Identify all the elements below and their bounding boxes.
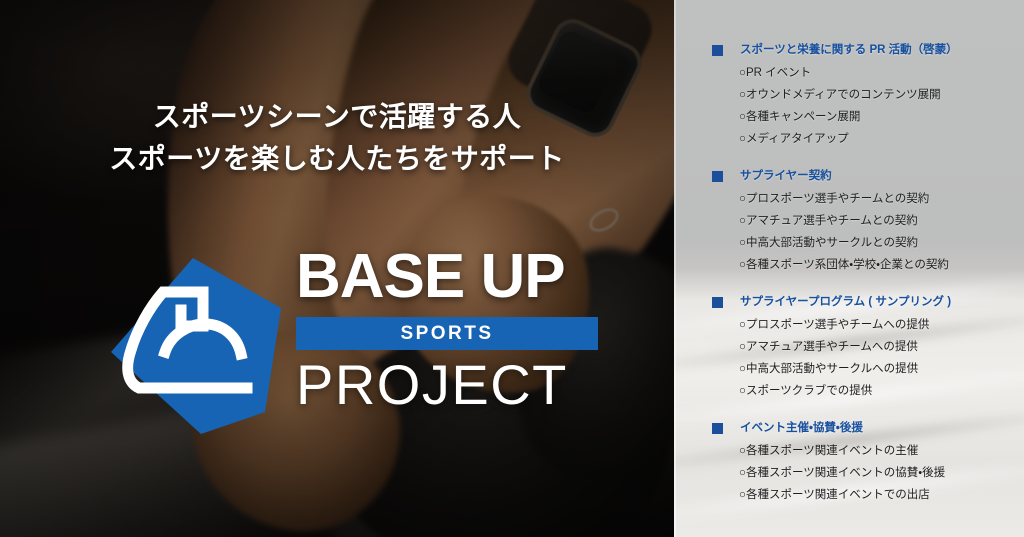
activities-panel: スポーツと栄養に関する PR 活動（啓蒙） ○PR イベント ○オウンドメディア… xyxy=(674,0,1024,537)
hero-headline: スポーツシーンで活躍する人 スポーツを楽しむ人たちをサポート xyxy=(0,96,674,180)
list-item: ○オウンドメディアでのコンテンツ展開 xyxy=(739,84,1024,106)
blue-square-bullet-icon xyxy=(712,45,723,56)
activity-group-heading: サプライヤー契約 xyxy=(712,168,1024,184)
brand-logo-lockup: BASE UP SPORTS PROJECT xyxy=(0,246,674,446)
wordmark-sports-label: SPORTS xyxy=(400,324,493,343)
activity-group-heading: イベント主催・協賛・後援 xyxy=(712,420,1024,436)
activities-list: スポーツと栄養に関する PR 活動（啓蒙） ○PR イベント ○オウンドメディア… xyxy=(674,0,1024,537)
activity-group-title: サプライヤープログラム ( サンプリング ) xyxy=(740,296,951,308)
blue-square-bullet-icon xyxy=(712,297,723,308)
wordmark: BASE UP SPORTS PROJECT xyxy=(296,246,626,414)
activity-group-events: イベント主催・協賛・後援 ○各種スポーツ関連イベントの主催 ○各種スポーツ関連イ… xyxy=(712,420,1024,522)
activity-group-heading: サプライヤープログラム ( サンプリング ) xyxy=(712,294,1024,310)
wordmark-base-up: BASE UP xyxy=(296,246,626,308)
list-item: ○アマチュア選手やチームとの契約 xyxy=(739,210,1024,232)
blue-square-bullet-icon xyxy=(712,171,723,182)
activity-item-list: ○プロスポーツ選手やチームへの提供 ○アマチュア選手やチームへの提供 ○中高大部… xyxy=(712,314,1024,402)
activity-group-title: スポーツと栄養に関する PR 活動（啓蒙） xyxy=(740,44,958,56)
blue-square-bullet-icon xyxy=(712,423,723,434)
list-item: ○各種スポーツ関連イベントの主催 xyxy=(739,440,1024,462)
activity-group-supplier-program: サプライヤープログラム ( サンプリング ) ○プロスポーツ選手やチームへの提供… xyxy=(712,294,1024,418)
list-item: ○各種キャンペーン展開 xyxy=(739,106,1024,128)
list-item: ○各種スポーツ系団体・学校・企業との契約 xyxy=(739,254,1024,276)
list-item: ○中高大部活動やサークルへの提供 xyxy=(739,358,1024,380)
list-item: ○スポーツクラブでの提供 xyxy=(739,380,1024,402)
list-item: ○各種スポーツ関連イベントでの出店 xyxy=(739,484,1024,506)
list-item: ○アマチュア選手やチームへの提供 xyxy=(739,336,1024,358)
list-item: ○プロスポーツ選手やチームとの契約 xyxy=(739,188,1024,210)
activity-group-pr: スポーツと栄養に関する PR 活動（啓蒙） ○PR イベント ○オウンドメディア… xyxy=(712,42,1024,166)
flexed-arm-icon xyxy=(105,256,283,436)
activity-group-heading: スポーツと栄養に関する PR 活動（啓蒙） xyxy=(712,42,1024,58)
activity-item-list: ○プロスポーツ選手やチームとの契約 ○アマチュア選手やチームとの契約 ○中高大部… xyxy=(712,188,1024,276)
list-item: ○メディアタイアップ xyxy=(739,128,1024,150)
hero-photo-panel: スポーツシーンで活躍する人 スポーツを楽しむ人たちをサポート BASE UP xyxy=(0,0,674,537)
activity-item-list: ○各種スポーツ関連イベントの主催 ○各種スポーツ関連イベントの協賛・後援 ○各種… xyxy=(712,440,1024,506)
slide-canvas: スポーツシーンで活躍する人 スポーツを楽しむ人たちをサポート BASE UP xyxy=(0,0,1024,537)
list-item: ○各種スポーツ関連イベントの協賛・後援 xyxy=(739,462,1024,484)
activity-group-title: イベント主催・協賛・後援 xyxy=(740,422,863,434)
activity-item-list: ○PR イベント ○オウンドメディアでのコンテンツ展開 ○各種キャンペーン展開 … xyxy=(712,62,1024,150)
list-item: ○中高大部活動やサークルとの契約 xyxy=(739,232,1024,254)
list-item: ○PR イベント xyxy=(739,62,1024,84)
activity-group-supplier-contract: サプライヤー契約 ○プロスポーツ選手やチームとの契約 ○アマチュア選手やチームと… xyxy=(712,168,1024,292)
wordmark-sports-badge: SPORTS xyxy=(296,317,598,350)
wordmark-project: PROJECT xyxy=(296,356,626,414)
list-item: ○プロスポーツ選手やチームへの提供 xyxy=(739,314,1024,336)
activity-group-title: サプライヤー契約 xyxy=(740,170,832,182)
hero-headline-line-1: スポーツシーンで活躍する人 xyxy=(0,96,674,138)
hero-headline-line-2: スポーツを楽しむ人たちをサポート xyxy=(0,138,674,180)
